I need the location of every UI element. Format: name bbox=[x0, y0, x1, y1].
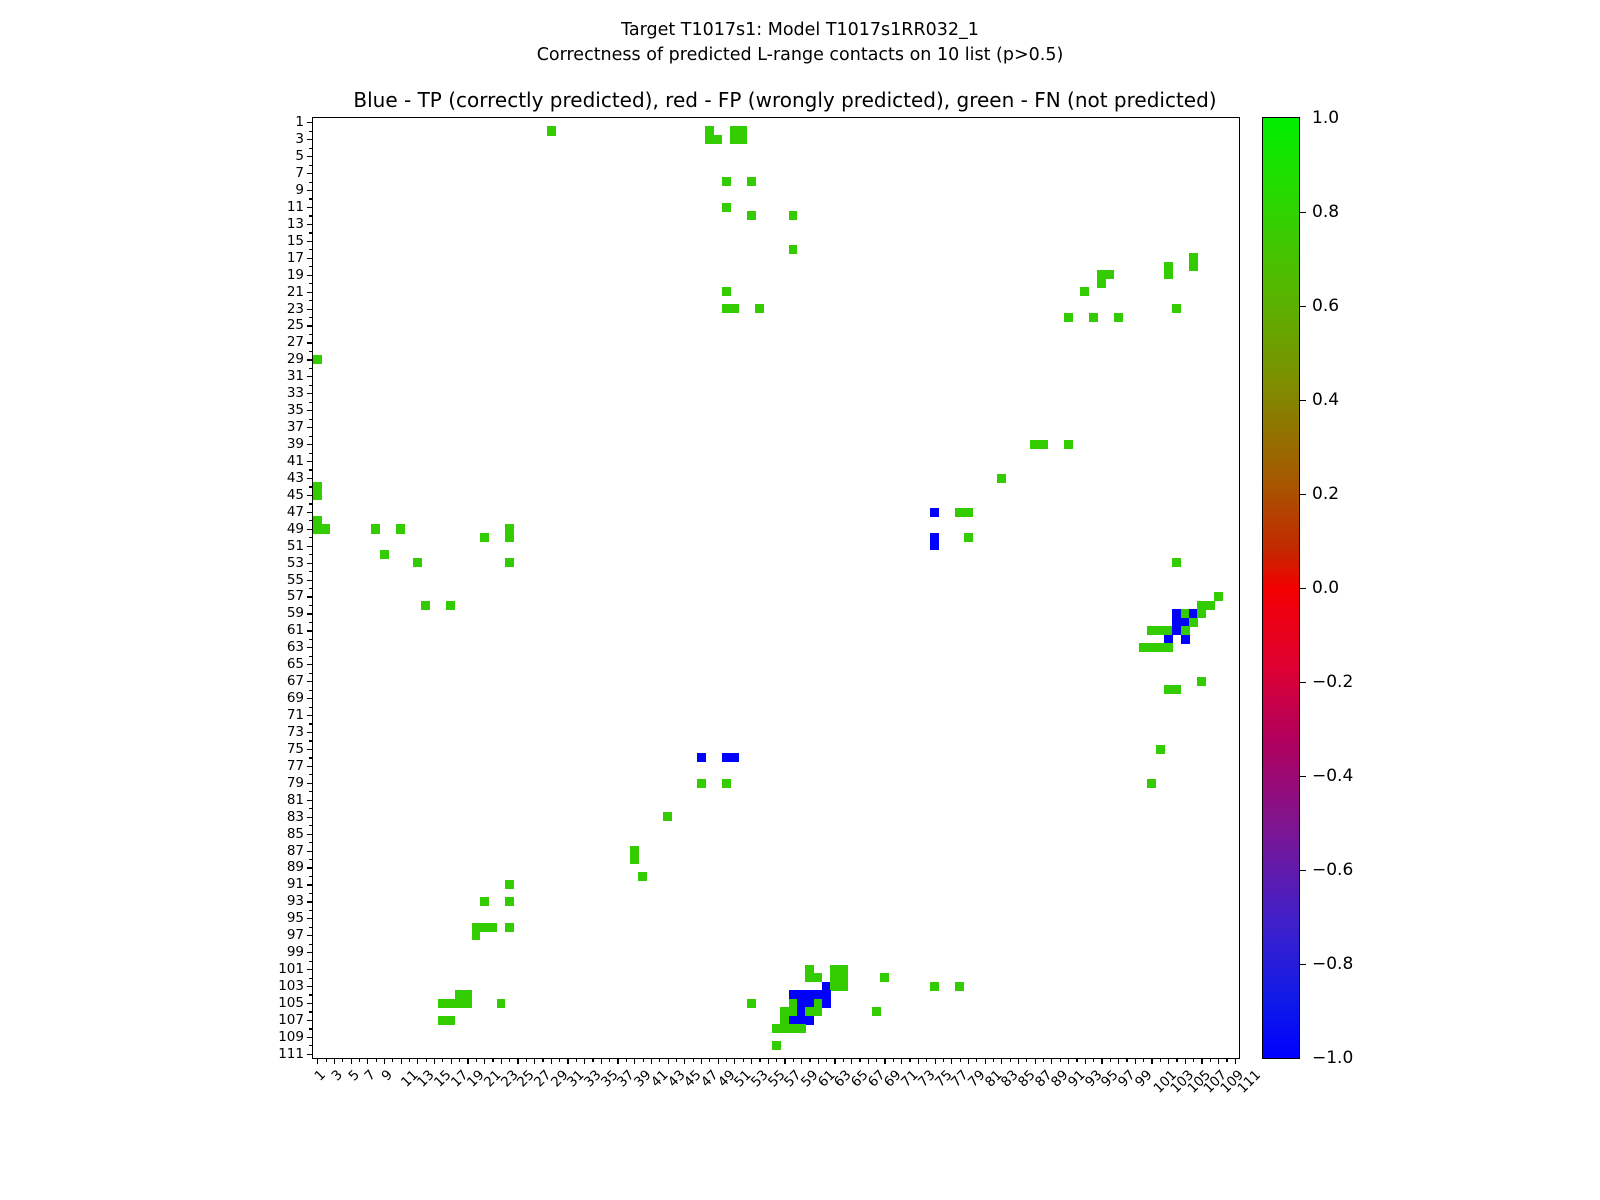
heatmap-cell bbox=[822, 999, 831, 1008]
x-axis-tick bbox=[818, 1058, 819, 1064]
y-axis-tick bbox=[307, 969, 313, 970]
y-axis-tick bbox=[309, 385, 313, 386]
x-axis-tick bbox=[893, 1058, 894, 1062]
heatmap-cell bbox=[547, 126, 556, 135]
x-axis-label: 5 bbox=[345, 1067, 362, 1084]
y-axis-tick bbox=[307, 1037, 313, 1038]
x-axis-tick bbox=[617, 1058, 618, 1064]
y-axis-tick bbox=[309, 842, 313, 843]
heatmap-cell bbox=[371, 524, 380, 533]
y-axis-label: 31 bbox=[287, 368, 304, 384]
y-axis-label: 37 bbox=[287, 419, 304, 435]
heatmap-cell bbox=[413, 558, 422, 567]
y-axis-label: 1 bbox=[295, 114, 304, 130]
heatmap-cell bbox=[755, 304, 764, 313]
y-axis-label: 21 bbox=[287, 284, 304, 300]
heatmap-cell bbox=[313, 491, 322, 500]
heatmap-cell bbox=[1064, 440, 1073, 449]
x-axis-tick bbox=[442, 1058, 443, 1062]
x-axis-tick bbox=[342, 1058, 343, 1062]
heatmap-cell bbox=[930, 982, 939, 991]
heatmap-cell bbox=[638, 872, 647, 881]
y-axis-tick bbox=[307, 901, 313, 902]
y-axis-label: 65 bbox=[287, 656, 304, 672]
heatmap-cell bbox=[839, 982, 848, 991]
x-axis-tick bbox=[1135, 1058, 1136, 1064]
colorbar-tick-label: 1.0 bbox=[1312, 108, 1339, 128]
x-axis-tick bbox=[467, 1058, 468, 1064]
y-axis-tick bbox=[307, 935, 313, 936]
x-axis-tick bbox=[1068, 1058, 1069, 1064]
x-axis-tick bbox=[759, 1058, 760, 1062]
x-axis-tick bbox=[609, 1058, 610, 1062]
y-axis-tick bbox=[309, 893, 313, 894]
heatmap-cell bbox=[872, 1007, 881, 1016]
x-axis-tick bbox=[634, 1058, 635, 1064]
contact-map-plot-area[interactable]: 1133557799111113131515171719192121232325… bbox=[312, 117, 1240, 1059]
y-axis-label: 105 bbox=[278, 995, 304, 1011]
y-axis-tick bbox=[307, 461, 313, 462]
y-axis-label: 81 bbox=[287, 792, 304, 808]
y-axis-tick bbox=[309, 808, 313, 809]
y-axis-tick bbox=[309, 520, 313, 521]
x-axis-tick bbox=[1001, 1058, 1002, 1064]
y-axis-label: 91 bbox=[287, 876, 304, 892]
x-axis-tick bbox=[876, 1058, 877, 1062]
y-axis-label: 79 bbox=[287, 775, 304, 791]
x-axis-tick bbox=[793, 1058, 794, 1062]
y-axis-label: 41 bbox=[287, 453, 304, 469]
y-axis-tick bbox=[307, 139, 313, 140]
x-axis-tick bbox=[451, 1058, 452, 1064]
y-axis-tick bbox=[307, 122, 313, 123]
x-axis-tick bbox=[584, 1058, 585, 1064]
x-axis-tick bbox=[734, 1058, 735, 1064]
x-axis-tick bbox=[718, 1058, 719, 1064]
x-axis-tick bbox=[1026, 1058, 1027, 1062]
y-axis-tick bbox=[309, 740, 313, 741]
y-axis-label: 7 bbox=[295, 165, 304, 181]
heatmap-cell bbox=[505, 923, 514, 932]
y-axis-tick bbox=[309, 182, 313, 183]
x-axis-tick bbox=[626, 1058, 627, 1062]
y-axis-tick bbox=[309, 554, 313, 555]
y-axis-label: 45 bbox=[287, 487, 304, 503]
y-axis-tick bbox=[309, 774, 313, 775]
x-axis-tick bbox=[384, 1058, 385, 1064]
heatmap-cell bbox=[1089, 313, 1098, 322]
x-axis-tick bbox=[951, 1058, 952, 1064]
x-axis-tick bbox=[1018, 1058, 1019, 1064]
x-axis-tick bbox=[1235, 1058, 1236, 1064]
x-axis-tick bbox=[517, 1058, 518, 1064]
heatmap-cell bbox=[1106, 270, 1115, 279]
y-axis-label: 87 bbox=[287, 843, 304, 859]
y-axis-tick bbox=[309, 622, 313, 623]
y-axis-tick bbox=[309, 757, 313, 758]
heatmap-cell bbox=[1206, 601, 1215, 610]
y-axis-label: 13 bbox=[287, 216, 304, 232]
y-axis-tick bbox=[309, 198, 313, 199]
x-axis-tick bbox=[935, 1058, 936, 1064]
y-axis-tick bbox=[307, 613, 313, 614]
heatmap-cell bbox=[1172, 304, 1181, 313]
y-axis-tick bbox=[309, 961, 313, 962]
y-axis-tick bbox=[307, 444, 313, 445]
x-axis-tick bbox=[401, 1058, 402, 1064]
x-axis-tick bbox=[484, 1058, 485, 1064]
heatmap-cell bbox=[505, 533, 514, 542]
y-axis-tick bbox=[309, 368, 313, 369]
x-axis-tick bbox=[359, 1058, 360, 1062]
x-axis-tick bbox=[351, 1058, 352, 1064]
y-axis-tick bbox=[307, 851, 313, 852]
x-axis-tick bbox=[884, 1058, 885, 1064]
y-axis-tick bbox=[307, 529, 313, 530]
y-axis-tick bbox=[307, 867, 313, 868]
x-axis-tick bbox=[534, 1058, 535, 1064]
y-axis-tick bbox=[309, 537, 313, 538]
x-axis-tick bbox=[1168, 1058, 1169, 1064]
x-axis-tick bbox=[784, 1058, 785, 1064]
heatmap-cell bbox=[713, 135, 722, 144]
x-axis-tick bbox=[726, 1058, 727, 1062]
colorbar-tick-label: −0.6 bbox=[1312, 860, 1353, 880]
y-axis-tick bbox=[309, 1028, 313, 1029]
x-axis-tick bbox=[492, 1058, 493, 1062]
x-axis-tick bbox=[1201, 1058, 1202, 1064]
y-axis-label: 51 bbox=[287, 538, 304, 554]
heatmap-cell bbox=[789, 245, 798, 254]
x-axis-tick bbox=[843, 1058, 844, 1062]
x-axis-tick bbox=[1151, 1058, 1152, 1064]
y-axis-tick bbox=[307, 309, 313, 310]
x-axis-tick bbox=[409, 1058, 410, 1062]
x-axis-tick bbox=[1160, 1058, 1161, 1062]
y-axis-tick bbox=[307, 749, 313, 750]
y-axis-tick bbox=[307, 681, 313, 682]
colorbar-tick-label: 0.2 bbox=[1312, 484, 1339, 504]
colorbar-tick-label: −0.8 bbox=[1312, 954, 1353, 974]
x-axis-tick bbox=[1143, 1058, 1144, 1062]
x-axis-tick bbox=[1210, 1058, 1211, 1062]
y-axis-tick bbox=[307, 664, 313, 665]
heatmap-cell bbox=[738, 135, 747, 144]
x-axis-tick bbox=[901, 1058, 902, 1064]
x-axis-tick bbox=[859, 1058, 860, 1062]
y-axis-label: 93 bbox=[287, 893, 304, 909]
y-axis-label: 95 bbox=[287, 910, 304, 926]
heatmap-cell bbox=[1080, 287, 1089, 296]
y-axis-tick bbox=[309, 215, 313, 216]
y-axis-tick bbox=[309, 419, 313, 420]
heatmap-cell bbox=[1039, 440, 1048, 449]
x-axis-tick bbox=[943, 1058, 944, 1062]
y-axis-tick bbox=[307, 952, 313, 953]
heatmap-cell bbox=[930, 541, 939, 550]
y-axis-label: 67 bbox=[287, 673, 304, 689]
heatmap-cell bbox=[630, 855, 639, 864]
heatmap-cell bbox=[697, 779, 706, 788]
heatmap-cell bbox=[1164, 270, 1173, 279]
heatmap-cell bbox=[1181, 635, 1190, 644]
heatmap-cell bbox=[1197, 677, 1206, 686]
y-axis-tick bbox=[309, 436, 313, 437]
heatmap-cell bbox=[463, 990, 472, 999]
heatmap-cell bbox=[1114, 313, 1123, 322]
x-axis-tick bbox=[509, 1058, 510, 1062]
heatmap-cell bbox=[1189, 618, 1198, 627]
heatmap-cell bbox=[722, 287, 731, 296]
x-axis-tick bbox=[426, 1058, 427, 1062]
heatmap-cell bbox=[730, 753, 739, 762]
y-axis-tick bbox=[309, 232, 313, 233]
y-axis-label: 107 bbox=[278, 1012, 304, 1028]
y-axis-tick bbox=[309, 944, 313, 945]
y-axis-tick bbox=[307, 258, 313, 259]
x-axis-label: 1 bbox=[312, 1067, 329, 1084]
x-axis-tick bbox=[326, 1058, 327, 1062]
heatmap-cell bbox=[396, 524, 405, 533]
x-axis-tick bbox=[1085, 1058, 1086, 1064]
heatmap-cell bbox=[1189, 262, 1198, 271]
heatmap-cell bbox=[772, 1041, 781, 1050]
heatmap-cell bbox=[1164, 643, 1173, 652]
y-axis-tick bbox=[307, 173, 313, 174]
x-axis-tick bbox=[567, 1058, 568, 1064]
y-axis-label: 29 bbox=[287, 351, 304, 367]
y-axis-tick bbox=[307, 732, 313, 733]
y-axis-label: 109 bbox=[278, 1029, 304, 1045]
y-axis-tick bbox=[307, 376, 313, 377]
y-axis-tick bbox=[309, 571, 313, 572]
y-axis-tick bbox=[307, 546, 313, 547]
x-axis-tick bbox=[1118, 1058, 1119, 1064]
y-axis-tick bbox=[307, 630, 313, 631]
y-axis-label: 59 bbox=[287, 605, 304, 621]
colorbar-tick bbox=[1299, 212, 1306, 213]
y-axis-tick bbox=[309, 486, 313, 487]
y-axis-label: 25 bbox=[287, 317, 304, 333]
x-axis-tick bbox=[434, 1058, 435, 1064]
y-axis-tick bbox=[309, 402, 313, 403]
y-axis-tick bbox=[309, 300, 313, 301]
y-axis-tick bbox=[307, 800, 313, 801]
colorbar: 1.00.80.60.40.20.0−0.2−0.4−0.6−0.8−1.0 bbox=[1262, 117, 1300, 1059]
heatmap-cell bbox=[446, 1016, 455, 1025]
heatmap-cell bbox=[480, 533, 489, 542]
y-axis-tick bbox=[307, 156, 313, 157]
y-axis-label: 33 bbox=[287, 385, 304, 401]
x-axis-tick bbox=[668, 1058, 669, 1064]
x-axis-tick bbox=[868, 1058, 869, 1064]
y-axis-label: 61 bbox=[287, 622, 304, 638]
heatmap-cell bbox=[930, 508, 939, 517]
heatmap-cell bbox=[505, 558, 514, 567]
y-axis-tick bbox=[307, 190, 313, 191]
y-axis-label: 43 bbox=[287, 470, 304, 486]
y-axis-tick bbox=[309, 453, 313, 454]
y-axis-tick bbox=[309, 723, 313, 724]
x-axis-tick bbox=[801, 1058, 802, 1064]
y-axis-tick bbox=[309, 605, 313, 606]
x-axis-tick bbox=[367, 1058, 368, 1064]
heatmap-cell bbox=[1156, 745, 1165, 754]
y-axis-tick bbox=[307, 1003, 313, 1004]
x-axis-tick bbox=[1193, 1058, 1194, 1062]
x-axis-tick bbox=[809, 1058, 810, 1062]
heatmap-cell bbox=[1064, 313, 1073, 322]
y-axis-label: 111 bbox=[278, 1046, 304, 1062]
y-axis-label: 77 bbox=[287, 758, 304, 774]
y-axis-tick bbox=[307, 427, 313, 428]
y-axis-label: 11 bbox=[287, 199, 304, 215]
heatmap-cell bbox=[663, 812, 672, 821]
y-axis-tick bbox=[307, 241, 313, 242]
y-axis-tick bbox=[307, 698, 313, 699]
y-axis-tick bbox=[307, 224, 313, 225]
x-axis-tick bbox=[776, 1058, 777, 1062]
x-axis-tick bbox=[317, 1058, 318, 1064]
heatmap-cell bbox=[505, 897, 514, 906]
y-axis-tick bbox=[309, 639, 313, 640]
y-axis-label: 89 bbox=[287, 859, 304, 875]
y-axis-label: 85 bbox=[287, 826, 304, 842]
colorbar-tick-label: 0.6 bbox=[1312, 296, 1339, 316]
y-axis-label: 97 bbox=[287, 927, 304, 943]
x-axis-tick bbox=[542, 1058, 543, 1062]
y-axis-tick bbox=[307, 410, 313, 411]
x-axis-tick bbox=[851, 1058, 852, 1064]
x-axis-label: 3 bbox=[328, 1067, 345, 1084]
x-axis-tick bbox=[601, 1058, 602, 1064]
x-axis-tick bbox=[909, 1058, 910, 1062]
y-axis-tick bbox=[307, 207, 313, 208]
heatmap-cell bbox=[789, 211, 798, 220]
heatmap-cell bbox=[480, 897, 489, 906]
y-axis-tick bbox=[307, 918, 313, 919]
heatmap-cell bbox=[722, 779, 731, 788]
y-axis-label: 53 bbox=[287, 555, 304, 571]
colorbar-tick-label: 0.0 bbox=[1312, 578, 1339, 598]
y-axis-tick bbox=[307, 292, 313, 293]
heatmap-cell bbox=[380, 550, 389, 559]
y-axis-tick bbox=[307, 834, 313, 835]
colorbar-tick bbox=[1299, 776, 1306, 777]
y-axis-tick bbox=[307, 817, 313, 818]
heatmap-cell bbox=[805, 1016, 814, 1025]
y-axis-tick bbox=[309, 994, 313, 995]
x-axis-tick bbox=[1093, 1058, 1094, 1062]
colorbar-tick-label: −0.4 bbox=[1312, 766, 1353, 786]
x-axis-tick bbox=[993, 1058, 994, 1062]
x-axis-tick bbox=[334, 1058, 335, 1064]
heatmap-cell bbox=[1172, 685, 1181, 694]
title-line-1: Target T1017s1: Model T1017s1RR032_1 bbox=[0, 18, 1600, 43]
heatmap-cell bbox=[321, 524, 330, 533]
heatmap-cell bbox=[1197, 609, 1206, 618]
heatmap-cell bbox=[797, 1024, 806, 1033]
x-axis-tick bbox=[459, 1058, 460, 1062]
heatmap-cell bbox=[446, 601, 455, 610]
y-axis-label: 17 bbox=[287, 250, 304, 266]
y-axis-label: 23 bbox=[287, 301, 304, 317]
heatmap-cell bbox=[964, 533, 973, 542]
y-axis-label: 71 bbox=[287, 707, 304, 723]
x-axis-tick bbox=[392, 1058, 393, 1062]
x-axis-tick bbox=[1035, 1058, 1036, 1064]
x-axis-tick bbox=[926, 1058, 927, 1062]
heatmap-cell bbox=[880, 973, 889, 982]
colorbar-tick-label: 0.4 bbox=[1312, 390, 1339, 410]
y-axis-tick bbox=[309, 131, 313, 132]
x-axis-tick bbox=[1010, 1058, 1011, 1062]
x-axis-tick bbox=[834, 1058, 835, 1064]
y-axis-tick bbox=[309, 351, 313, 352]
x-axis-tick bbox=[701, 1058, 702, 1064]
y-axis-tick bbox=[307, 393, 313, 394]
heatmap-cell bbox=[747, 999, 756, 1008]
colorbar-tick bbox=[1299, 682, 1306, 683]
x-axis-tick bbox=[751, 1058, 752, 1064]
x-axis-tick bbox=[376, 1058, 377, 1062]
heatmap-cell bbox=[1147, 779, 1156, 788]
y-axis-tick bbox=[309, 1011, 313, 1012]
contact-map-figure: Target T1017s1: Model T1017s1RR032_1 Cor… bbox=[0, 0, 1600, 1200]
heatmap-cell bbox=[463, 999, 472, 1008]
colorbar-tick bbox=[1299, 494, 1306, 495]
x-axis-tick bbox=[659, 1058, 660, 1062]
y-axis-label: 99 bbox=[287, 944, 304, 960]
colorbar-tick bbox=[1299, 588, 1306, 589]
x-axis-tick bbox=[985, 1058, 986, 1064]
x-axis-tick bbox=[643, 1058, 644, 1062]
x-axis-tick bbox=[1218, 1058, 1219, 1064]
y-axis-tick bbox=[307, 884, 313, 885]
y-axis-tick bbox=[307, 563, 313, 564]
colorbar-tick bbox=[1299, 400, 1306, 401]
heatmap-cell bbox=[488, 923, 497, 932]
heatmap-cell bbox=[997, 474, 1006, 483]
y-axis-tick bbox=[307, 580, 313, 581]
y-axis-label: 83 bbox=[287, 809, 304, 825]
y-axis-tick bbox=[309, 876, 313, 877]
x-axis-tick bbox=[1043, 1058, 1044, 1062]
x-axis-label: 7 bbox=[362, 1067, 379, 1084]
y-axis-label: 55 bbox=[287, 572, 304, 588]
heatmap-cell bbox=[964, 508, 973, 517]
x-axis-tick bbox=[1126, 1058, 1127, 1062]
y-axis-tick bbox=[307, 1020, 313, 1021]
x-axis-tick bbox=[960, 1058, 961, 1062]
y-axis-tick bbox=[309, 978, 313, 979]
x-axis-tick bbox=[576, 1058, 577, 1062]
x-axis-tick bbox=[743, 1058, 744, 1062]
y-axis-label: 69 bbox=[287, 690, 304, 706]
y-axis-label: 15 bbox=[287, 233, 304, 249]
heatmap-cell bbox=[497, 999, 506, 1008]
heatmap-cell bbox=[1214, 592, 1223, 601]
x-axis-tick bbox=[826, 1058, 827, 1062]
y-axis-tick bbox=[309, 469, 313, 470]
colorbar-tick-label: 0.8 bbox=[1312, 202, 1339, 222]
y-axis-tick bbox=[309, 859, 313, 860]
colorbar-tick bbox=[1299, 964, 1306, 965]
y-axis-tick bbox=[309, 673, 313, 674]
x-axis-tick bbox=[918, 1058, 919, 1064]
y-axis-label: 5 bbox=[295, 148, 304, 164]
y-axis-tick bbox=[309, 927, 313, 928]
